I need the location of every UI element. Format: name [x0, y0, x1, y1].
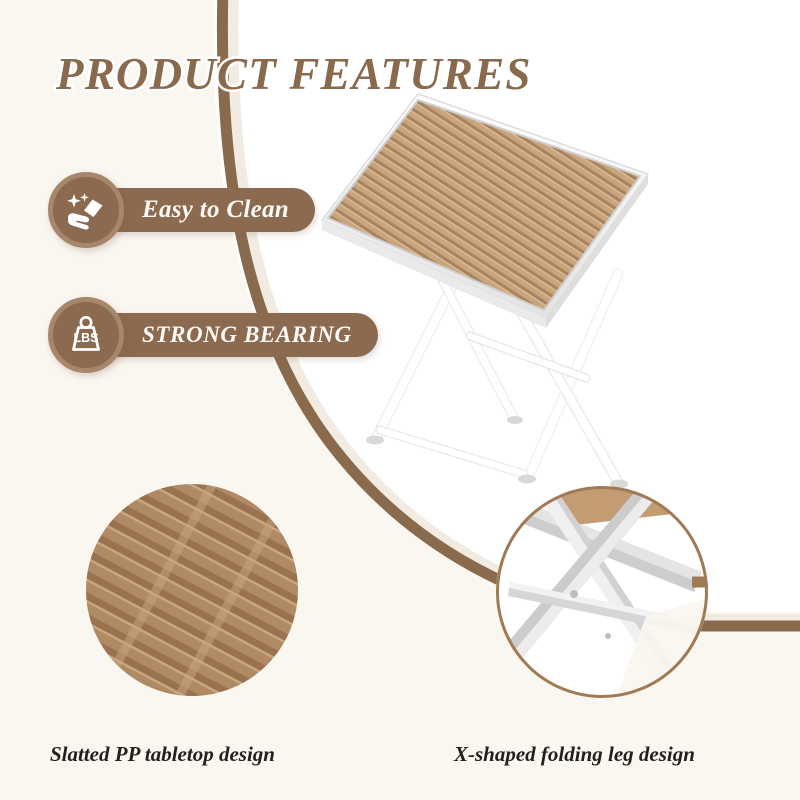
hand-wiping-sparkle-icon: [48, 172, 124, 248]
feature-label: Easy to Clean: [142, 196, 289, 224]
detail-inset-legs: [496, 486, 708, 698]
tabletop-slat-closeup: [86, 484, 298, 696]
feature-item-easy-to-clean[interactable]: Easy to Clean: [48, 172, 315, 248]
infographic-canvas: PRODUCT FEATURES Easy to Clean: [0, 0, 800, 800]
detail-inset-tabletop: [86, 484, 298, 696]
caption-tabletop: Slatted PP tabletop design: [50, 742, 275, 767]
x-leg-joint-closeup: [496, 486, 708, 698]
weight-lbs-icon: LBS: [48, 297, 124, 373]
caption-legs: X-shaped folding leg design: [454, 742, 695, 767]
weight-icon-text: LBS: [74, 331, 99, 345]
product-image-folding-table: [318, 78, 738, 498]
